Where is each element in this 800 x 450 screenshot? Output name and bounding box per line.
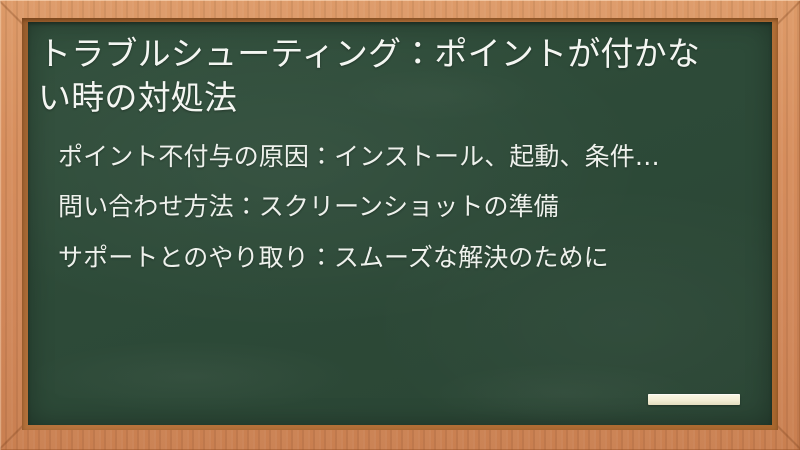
slide-content: トラブルシューティング：ポイントが付かない時の対処法 ポイント不付与の原因：イン… <box>28 22 772 425</box>
list-item: ポイント不付与の原因：インストール、起動、条件… <box>58 141 713 174</box>
chalk-stick-icon <box>648 394 740 405</box>
chalkboard-surface: トラブルシューティング：ポイントが付かない時の対処法 ポイント不付与の原因：イン… <box>28 22 772 425</box>
list-item: サポートとのやり取り：スムーズな解決のために <box>58 242 713 275</box>
chalkboard-slide: トラブルシューティング：ポイントが付かない時の対処法 ポイント不付与の原因：イン… <box>0 0 800 450</box>
slide-title: トラブルシューティング：ポイントが付かない時の対処法 <box>38 32 728 120</box>
bullet-list: ポイント不付与の原因：インストール、起動、条件… 問い合わせ方法：スクリーンショ… <box>38 141 746 275</box>
list-item: 問い合わせ方法：スクリーンショットの準備 <box>58 191 713 224</box>
